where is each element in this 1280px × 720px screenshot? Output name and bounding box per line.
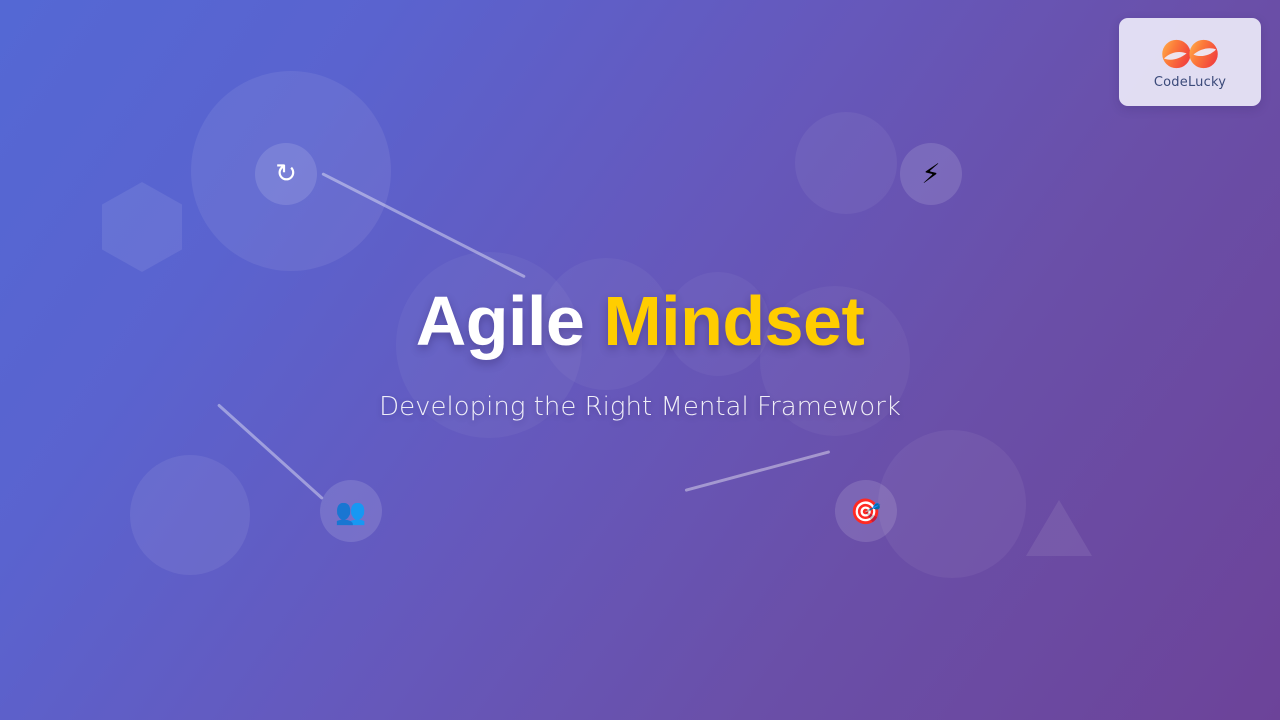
decor-circle-bottomleft [130,455,250,575]
decor-hexagon-icon [102,182,182,272]
target-bullseye-icon-badge: 🎯 [835,480,897,542]
refresh-cycle-icon: ↻ [275,161,297,187]
people-team-icon: 👥 [335,499,366,524]
slide-title-accent: Mindset [603,282,864,360]
lightning-bolt-icon-badge: ⚡ [900,143,962,205]
refresh-cycle-icon-badge: ↻ [255,143,317,205]
decor-circle-bottomright-large [878,430,1026,578]
decor-triangle-icon [1026,500,1092,556]
slide-canvas: ↻ ⚡ 👥 🎯 Agile Mindset Developing the Rig… [0,0,1280,720]
slide-subtitle: Developing the Right Mental Framework [0,392,1280,422]
lightning-bolt-icon: ⚡ [922,161,941,188]
decor-circle-topright [795,112,897,214]
hero-text-block: Agile Mindset Developing the Right Menta… [0,286,1280,422]
decor-connector-line-3 [685,450,831,492]
slide-title-space [584,282,603,360]
people-team-icon-badge: 👥 [320,480,382,542]
slide-title: Agile Mindset [0,286,1280,356]
target-bullseye-icon: 🎯 [850,499,881,524]
brand-name-label: CodeLucky [1154,75,1226,90]
brand-logo-card[interactable]: CodeLucky [1119,18,1261,106]
infinity-logo-icon [1156,35,1224,73]
slide-title-primary: Agile [416,282,585,360]
